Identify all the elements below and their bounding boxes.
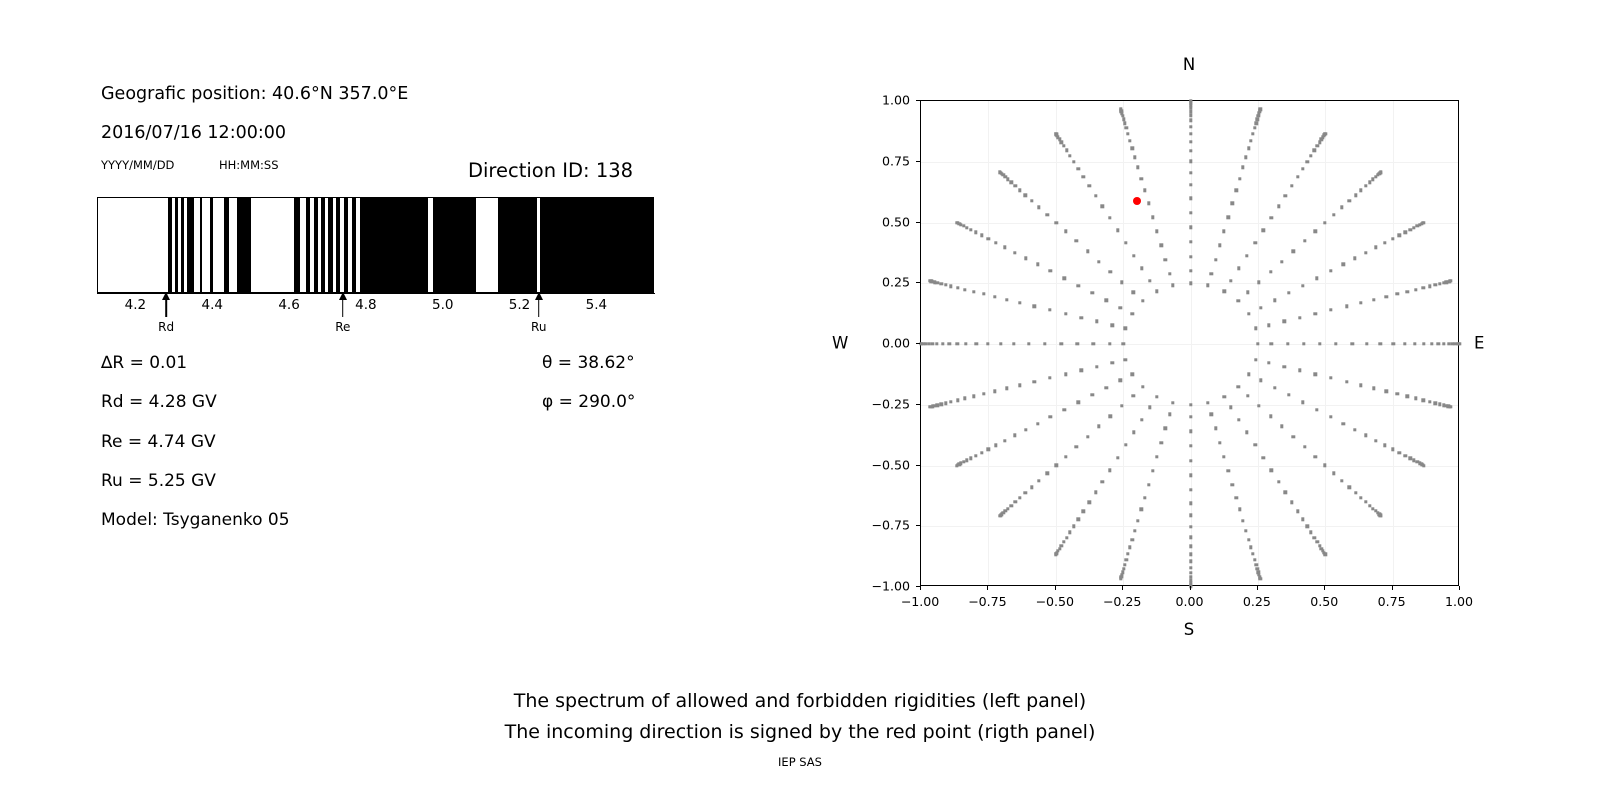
direction-dot	[1189, 560, 1192, 563]
direction-dot	[1160, 244, 1163, 247]
direction-dot	[998, 514, 1001, 517]
direction-dot	[1364, 500, 1367, 503]
direction-dot	[1244, 529, 1247, 532]
direction-dot	[1329, 308, 1332, 311]
direction-dot	[1340, 479, 1343, 482]
direction-dot	[1437, 342, 1440, 345]
direction-dot	[1111, 361, 1114, 364]
plot-ytick-mark	[916, 465, 920, 466]
direction-dot	[1229, 405, 1232, 408]
direction-dot	[972, 395, 975, 398]
direction-dot	[928, 279, 931, 282]
direction-dot	[1189, 566, 1192, 569]
direction-dot	[1189, 444, 1192, 447]
direction-dot	[1262, 229, 1265, 232]
direction-dot	[1256, 117, 1259, 120]
direction-dot	[1287, 393, 1290, 396]
direction-dot	[1121, 342, 1124, 345]
direction-dot	[1143, 189, 1146, 192]
direction-dot	[1189, 110, 1192, 113]
forbidden-band	[181, 198, 184, 292]
direction-dot	[1116, 229, 1119, 232]
direction-dot	[1249, 546, 1252, 549]
forbidden-band	[306, 198, 310, 292]
direction-dot	[1148, 405, 1151, 408]
direction-dot	[1245, 431, 1248, 434]
direction-dot	[1130, 373, 1133, 376]
info-right-line: θ = 38.62°	[542, 355, 635, 372]
direction-dot	[1323, 221, 1326, 224]
plot-xtick-label: −1.00	[901, 594, 940, 609]
direction-dot	[1284, 194, 1287, 197]
gridline-vertical	[1325, 101, 1326, 585]
direction-dot	[1133, 529, 1136, 532]
direction-dot	[1122, 117, 1125, 120]
direction-dot	[1406, 290, 1409, 293]
direction-dot	[1063, 408, 1066, 411]
direction-dot	[1171, 401, 1174, 404]
selected-direction-point[interactable]	[1133, 197, 1141, 205]
forbidden-band	[237, 198, 251, 292]
direction-dot	[1206, 401, 1209, 404]
direction-dot	[1131, 147, 1134, 150]
arrow-head-icon	[535, 292, 543, 300]
forbidden-band	[314, 198, 318, 292]
direction-dot	[944, 401, 947, 404]
footer-credit: IEP SAS	[0, 755, 1600, 769]
direction-dot	[1379, 342, 1382, 345]
direction-dot	[1074, 445, 1077, 448]
plot-xtick-label: −0.50	[1035, 594, 1074, 609]
direction-dot	[1148, 279, 1151, 282]
direction-dot	[1353, 428, 1356, 431]
direction-dot	[1124, 327, 1127, 330]
direction-dot	[1413, 342, 1416, 345]
plot-xtick-label: 0.25	[1243, 594, 1271, 609]
direction-dot	[1189, 415, 1192, 418]
direction-dot	[1422, 221, 1425, 224]
direction-dot	[1372, 298, 1375, 301]
direction-dot	[1164, 258, 1167, 261]
direction-dot	[1254, 327, 1257, 330]
direction-dot	[1313, 149, 1316, 152]
direction-dot	[1404, 231, 1407, 234]
direction-dot	[1128, 139, 1131, 142]
direction-dot	[1155, 290, 1158, 293]
direction-dot	[1074, 239, 1077, 242]
direction-dot	[1009, 181, 1012, 184]
info-left-line: Ru = 5.25 GV	[101, 473, 216, 490]
direction-dot	[986, 342, 989, 345]
direction-dot	[1054, 463, 1057, 466]
direction-dot	[1259, 577, 1262, 580]
direction-dot	[1120, 280, 1123, 283]
direction-dot	[987, 448, 990, 451]
direction-dot	[1359, 496, 1362, 499]
direction-dot	[1391, 448, 1394, 451]
direction-dot	[1383, 241, 1386, 244]
direction-dot	[949, 400, 952, 403]
compass-label-west: W	[832, 334, 848, 353]
direction-dot	[956, 399, 959, 402]
direction-dot	[1354, 193, 1357, 196]
arrow-head-icon	[339, 292, 347, 300]
compass-label-east: E	[1474, 334, 1484, 353]
direction-dot	[1374, 439, 1377, 442]
direction-dot	[1119, 577, 1122, 580]
direction-dot	[949, 284, 952, 287]
direction-dot	[1054, 221, 1057, 224]
direction-dot	[1234, 496, 1237, 499]
direction-dot	[1189, 183, 1192, 186]
forbidden-band	[224, 198, 229, 292]
direction-dot	[1290, 184, 1293, 187]
direction-dot	[1155, 455, 1158, 458]
direction-dot	[969, 228, 972, 231]
direction-dot	[944, 283, 947, 286]
direction-dot	[1396, 292, 1399, 295]
direction-dot	[1316, 144, 1319, 147]
direction-dot	[1277, 204, 1280, 207]
direction-dot	[1372, 387, 1375, 390]
direction-dot	[1132, 431, 1135, 434]
caption-line-2: The incoming direction is signed by the …	[0, 717, 1600, 748]
direction-dot	[1422, 286, 1425, 289]
direction-id-label: Direction ID: 138	[468, 161, 633, 181]
direction-dot	[931, 342, 934, 345]
direction-dot	[1222, 290, 1225, 293]
direction-dot	[1364, 184, 1367, 187]
direction-dot	[994, 241, 997, 244]
direction-dot	[1091, 393, 1094, 396]
gridline-horizontal	[921, 466, 1458, 467]
direction-dot	[1222, 230, 1225, 233]
direction-dot	[1037, 206, 1040, 209]
caption-line-1: The spectrum of allowed and forbidden ri…	[0, 686, 1600, 717]
date-format-hint: YYYY/MM/DD	[101, 160, 174, 172]
direction-dot	[1079, 369, 1082, 372]
direction-dot	[1408, 228, 1411, 231]
forbidden-band	[210, 198, 213, 292]
direction-dot	[1241, 166, 1244, 169]
direction-dot	[1101, 204, 1104, 207]
direction-dot	[1171, 284, 1174, 287]
direction-dot	[1136, 166, 1139, 169]
direction-dot	[993, 295, 996, 298]
direction-dot	[1189, 149, 1192, 152]
direction-dot	[1189, 525, 1192, 528]
direction-dot	[1253, 126, 1256, 129]
direction-dot	[1218, 441, 1221, 444]
direction-dot	[1018, 189, 1021, 192]
direction-dot	[1189, 255, 1192, 258]
direction-dot	[1247, 147, 1250, 150]
rigidity-spectrum-chart	[97, 197, 654, 293]
direction-dot	[1329, 269, 1332, 272]
direction-dot	[1414, 288, 1417, 291]
direction-dot	[1125, 558, 1128, 561]
direction-dot	[1108, 342, 1111, 345]
direction-dot	[1314, 230, 1317, 233]
direction-dot	[1313, 536, 1316, 539]
direction-dot	[1246, 394, 1249, 397]
direction-dot	[1087, 184, 1090, 187]
direction-dot	[1449, 279, 1452, 282]
direction-dot	[987, 237, 990, 240]
direction-dot	[1030, 199, 1033, 202]
direction-dot	[1168, 413, 1171, 416]
direction-dot	[1126, 552, 1129, 555]
direction-dot	[1160, 441, 1163, 444]
direction-dot	[1247, 373, 1250, 376]
direction-dot	[1404, 454, 1407, 457]
plot-xtick-mark	[1122, 586, 1123, 590]
direction-dot	[1119, 108, 1122, 111]
direction-dot	[955, 464, 958, 467]
direction-dot	[1077, 401, 1080, 404]
forbidden-band	[498, 198, 538, 292]
direction-dot	[1251, 552, 1254, 555]
plot-xtick-label: 1.00	[1445, 594, 1473, 609]
direction-dot	[1076, 342, 1079, 345]
direction-dot	[1124, 241, 1127, 244]
forbidden-band	[336, 198, 341, 292]
direction-dot	[1259, 379, 1262, 382]
direction-dot	[1116, 456, 1119, 459]
direction-dot	[1332, 472, 1335, 475]
geographic-position-label: Geografic position: 40.6°N 357.0°E	[101, 86, 408, 104]
forbidden-band	[321, 198, 325, 292]
direction-dot	[1442, 342, 1445, 345]
direction-dot	[1254, 121, 1257, 124]
direction-dot	[1280, 425, 1283, 428]
direction-dot	[1398, 234, 1401, 237]
direction-dot	[1273, 299, 1276, 302]
direction-dot	[1396, 392, 1399, 395]
direction-dot	[1123, 563, 1126, 566]
direction-dot	[1189, 132, 1192, 135]
forbidden-band	[168, 198, 172, 292]
direction-dot	[939, 282, 942, 285]
direction-dot	[1189, 430, 1192, 433]
direction-dot	[1189, 571, 1192, 574]
direction-dot	[1345, 305, 1348, 308]
info-right-line: φ = 290.0°	[542, 394, 635, 411]
direction-dot	[1210, 413, 1213, 416]
plot-xtick-mark	[920, 586, 921, 590]
direction-dot	[972, 290, 975, 293]
plot-xtick-mark	[1055, 586, 1056, 590]
plot-ytick-label: 0.00	[854, 336, 910, 351]
direction-dot	[1290, 501, 1293, 504]
direction-dot	[1065, 536, 1068, 539]
direction-dot	[1140, 418, 1143, 421]
direction-dot	[1072, 525, 1075, 528]
direction-dot	[1189, 459, 1192, 462]
direction-dot	[1133, 156, 1136, 159]
direction-dot	[1030, 485, 1033, 488]
direction-dot	[1301, 518, 1304, 521]
plot-xtick-label: 0.50	[1310, 594, 1338, 609]
direction-dot	[1189, 160, 1192, 163]
direction-dot	[1048, 308, 1051, 311]
direction-dot	[1045, 213, 1048, 216]
direction-dot	[1403, 342, 1406, 345]
plot-ytick-mark	[916, 222, 920, 223]
direction-dot	[1105, 299, 1108, 302]
direction-dot	[1318, 141, 1321, 144]
figure-caption: The spectrum of allowed and forbidden ri…	[0, 686, 1600, 748]
datetime-label: 2016/07/16 12:00:00	[101, 125, 286, 143]
direction-dot	[1024, 257, 1027, 260]
direction-dot	[964, 342, 967, 345]
direction-dot	[1189, 140, 1192, 143]
direction-dot	[1003, 246, 1006, 249]
forbidden-band	[433, 198, 476, 292]
spectrum-marker-arrows: RdReRu	[0, 293, 760, 343]
direction-dot	[1270, 469, 1273, 472]
direction-dot	[975, 342, 978, 345]
direction-dot	[1168, 272, 1171, 275]
plot-ytick-label: 0.25	[854, 275, 910, 290]
direction-dot	[1086, 435, 1089, 438]
direction-dot	[1236, 385, 1239, 388]
direction-dot	[1458, 342, 1461, 345]
direction-dot	[1301, 167, 1304, 170]
direction-dot	[1082, 175, 1085, 178]
direction-dot	[1365, 342, 1368, 345]
direction-dot	[1247, 538, 1250, 541]
marker-label: Ru	[531, 320, 546, 334]
direction-dot	[1253, 241, 1256, 244]
direction-dot	[1269, 414, 1272, 417]
plot-xtick-label: 0.00	[1175, 594, 1203, 609]
direction-dot	[1077, 284, 1080, 287]
direction-dot	[1226, 469, 1229, 472]
direction-dot	[928, 405, 931, 408]
direction-dot	[994, 444, 997, 447]
direction-dot	[1189, 514, 1192, 517]
direction-dot	[1301, 284, 1304, 287]
arrow-head-icon	[162, 292, 170, 300]
direction-dot	[1189, 535, 1192, 538]
direction-dot	[1054, 132, 1057, 135]
direction-dot	[1065, 149, 1068, 152]
direction-dot	[1406, 395, 1409, 398]
direction-dot	[1206, 284, 1209, 287]
direction-dot	[1140, 267, 1143, 270]
direction-dot	[1095, 320, 1098, 323]
direction-dot	[1101, 480, 1104, 483]
direction-dot	[1348, 485, 1351, 488]
direction-dot	[1283, 320, 1286, 323]
direction-dot	[1283, 365, 1286, 368]
gridline-vertical	[1056, 101, 1057, 585]
direction-dot	[1345, 380, 1348, 383]
direction-dot	[1079, 316, 1082, 319]
direction-dot	[1226, 216, 1229, 219]
direction-dot	[1189, 501, 1192, 504]
direction-dot	[1095, 365, 1098, 368]
direction-dot	[1238, 177, 1241, 180]
direction-dot	[1189, 553, 1192, 556]
plot-xtick-mark	[1392, 586, 1393, 590]
direction-dot	[1033, 380, 1036, 383]
direction-dot	[1036, 422, 1039, 425]
direction-dot	[1314, 372, 1317, 375]
compass-label-north: N	[1183, 55, 1195, 74]
direction-dot	[1254, 563, 1257, 566]
direction-dot	[1379, 514, 1382, 517]
direction-dot	[1189, 125, 1192, 128]
direction-dot	[1141, 299, 1144, 302]
direction-dot	[1340, 206, 1343, 209]
direction-dot	[1296, 175, 1299, 178]
direction-dot	[1012, 342, 1015, 345]
direction-dot	[1151, 216, 1154, 219]
direction-dot	[1141, 385, 1144, 388]
direction-dot	[1302, 342, 1305, 345]
gridline-horizontal	[921, 223, 1458, 224]
direction-dot	[1018, 383, 1021, 386]
direction-dot	[1097, 260, 1100, 263]
direction-dot	[1189, 269, 1192, 272]
direction-dot	[1359, 189, 1362, 192]
direction-dot	[1086, 250, 1089, 253]
direction-dot	[974, 231, 977, 234]
direction-dot	[1256, 342, 1259, 345]
direction-dot	[1189, 211, 1192, 214]
direction-dot	[1068, 154, 1071, 157]
direction-dot	[1259, 306, 1262, 309]
info-left-line: ∆R = 0.01	[101, 355, 187, 372]
direction-dot	[1210, 272, 1213, 275]
direction-dot	[1267, 323, 1270, 326]
direction-dot	[1259, 108, 1262, 111]
direction-dot	[1013, 434, 1016, 437]
direction-dot	[1120, 404, 1123, 407]
plot-ytick-label: −0.25	[854, 396, 910, 411]
direction-dot	[1189, 488, 1192, 491]
direction-dot	[941, 342, 944, 345]
direction-dot	[1270, 342, 1273, 345]
direction-dot	[1189, 403, 1192, 406]
direction-dot	[1238, 508, 1241, 511]
direction-dot	[974, 454, 977, 457]
direction-dot	[935, 342, 938, 345]
direction-dot	[1018, 496, 1021, 499]
direction-dot	[1364, 434, 1367, 437]
direction-dot	[1374, 246, 1377, 249]
direction-dot	[1301, 401, 1304, 404]
direction-dot	[1298, 369, 1301, 372]
direction-dot	[1119, 306, 1122, 309]
direction-dot	[1189, 114, 1192, 117]
direction-dot	[1045, 472, 1048, 475]
direction-dot	[1130, 312, 1133, 315]
direction-dot	[1428, 284, 1431, 287]
direction-dot	[993, 390, 996, 393]
direction-dot	[1332, 213, 1335, 216]
direction-dot	[1284, 491, 1287, 494]
direction-dot	[1414, 397, 1417, 400]
plot-xtick-label: −0.75	[968, 594, 1007, 609]
direction-dot	[1359, 301, 1362, 304]
direction-dot	[1430, 342, 1433, 345]
direction-dot	[1305, 525, 1308, 528]
polar-scatter-plot	[920, 100, 1459, 586]
direction-dot	[1237, 418, 1240, 421]
